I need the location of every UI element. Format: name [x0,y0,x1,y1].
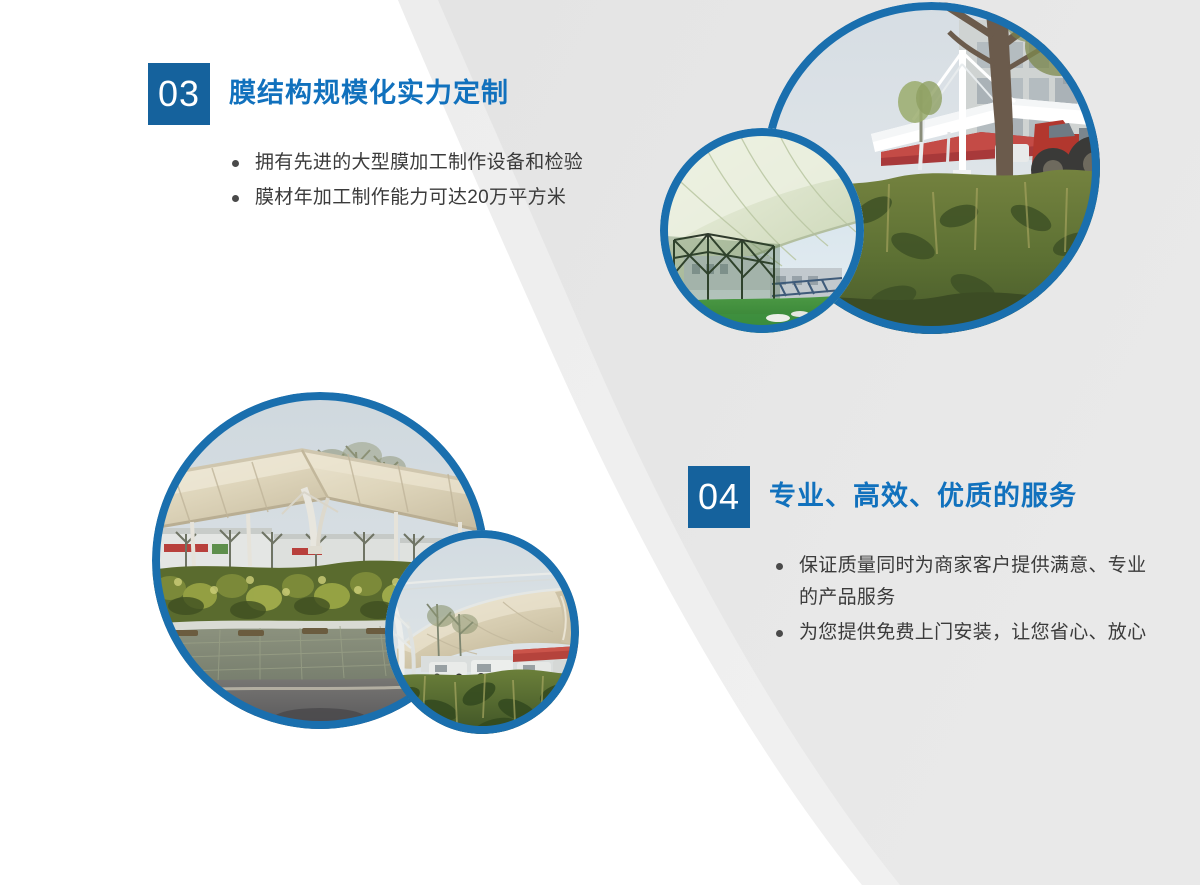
list-item-label: 拥有先进的大型膜加工制作设备和检验 [255,152,583,173]
section-04-title: 专业、高效、优质的服务 [769,482,1077,512]
section-03-number-badge: 03 [148,63,210,125]
section-04: 04 专业、高效、优质的服务 保证质量同时为商家客户提供满意、专业的产品服务 为… [688,466,1158,652]
section-03: 03 膜结构规模化实力定制 拥有先进的大型膜加工制作设备和检验 膜材年加工制作能… [148,63,618,217]
section-03-header: 03 膜结构规模化实力定制 [148,63,618,125]
bullet-dot-icon [232,160,239,167]
section-04-header: 04 专业、高效、优质的服务 [688,466,1158,528]
section-03-title: 膜结构规模化实力定制 [229,79,509,109]
section-03-bullet-list: 拥有先进的大型膜加工制作设备和检验 膜材年加工制作能力可达20万平方米 [229,147,618,214]
bullet-dot-icon [776,563,783,570]
photo-artwork [385,530,579,734]
section-04-bullet-list: 保证质量同时为商家客户提供满意、专业的产品服务 为您提供免费上门安装，让您省心、… [773,550,1158,649]
list-item: 为您提供免费上门安装，让您省心、放心 [773,617,1149,649]
photo-cantilever-membrane-canopy [385,530,579,734]
list-item: 膜材年加工制作能力可达20万平方米 [229,182,618,214]
list-item-label: 保证质量同时为商家客户提供满意、专业的产品服务 [799,555,1146,608]
list-item-label: 为您提供免费上门安装，让您省心、放心 [799,622,1146,643]
list-item: 拥有先进的大型膜加工制作设备和检验 [229,147,618,179]
bullet-dot-icon [776,630,783,637]
list-item: 保证质量同时为商家客户提供满意、专业的产品服务 [773,550,1149,614]
section-04-number-badge: 04 [688,466,750,528]
bullet-dot-icon [232,195,239,202]
photo-sports-field-membrane [660,128,864,333]
slide-root: 03 膜结构规模化实力定制 拥有先进的大型膜加工制作设备和检验 膜材年加工制作能… [0,0,1200,885]
list-item-label: 膜材年加工制作能力可达20万平方米 [255,187,566,208]
photo-artwork [660,128,864,333]
